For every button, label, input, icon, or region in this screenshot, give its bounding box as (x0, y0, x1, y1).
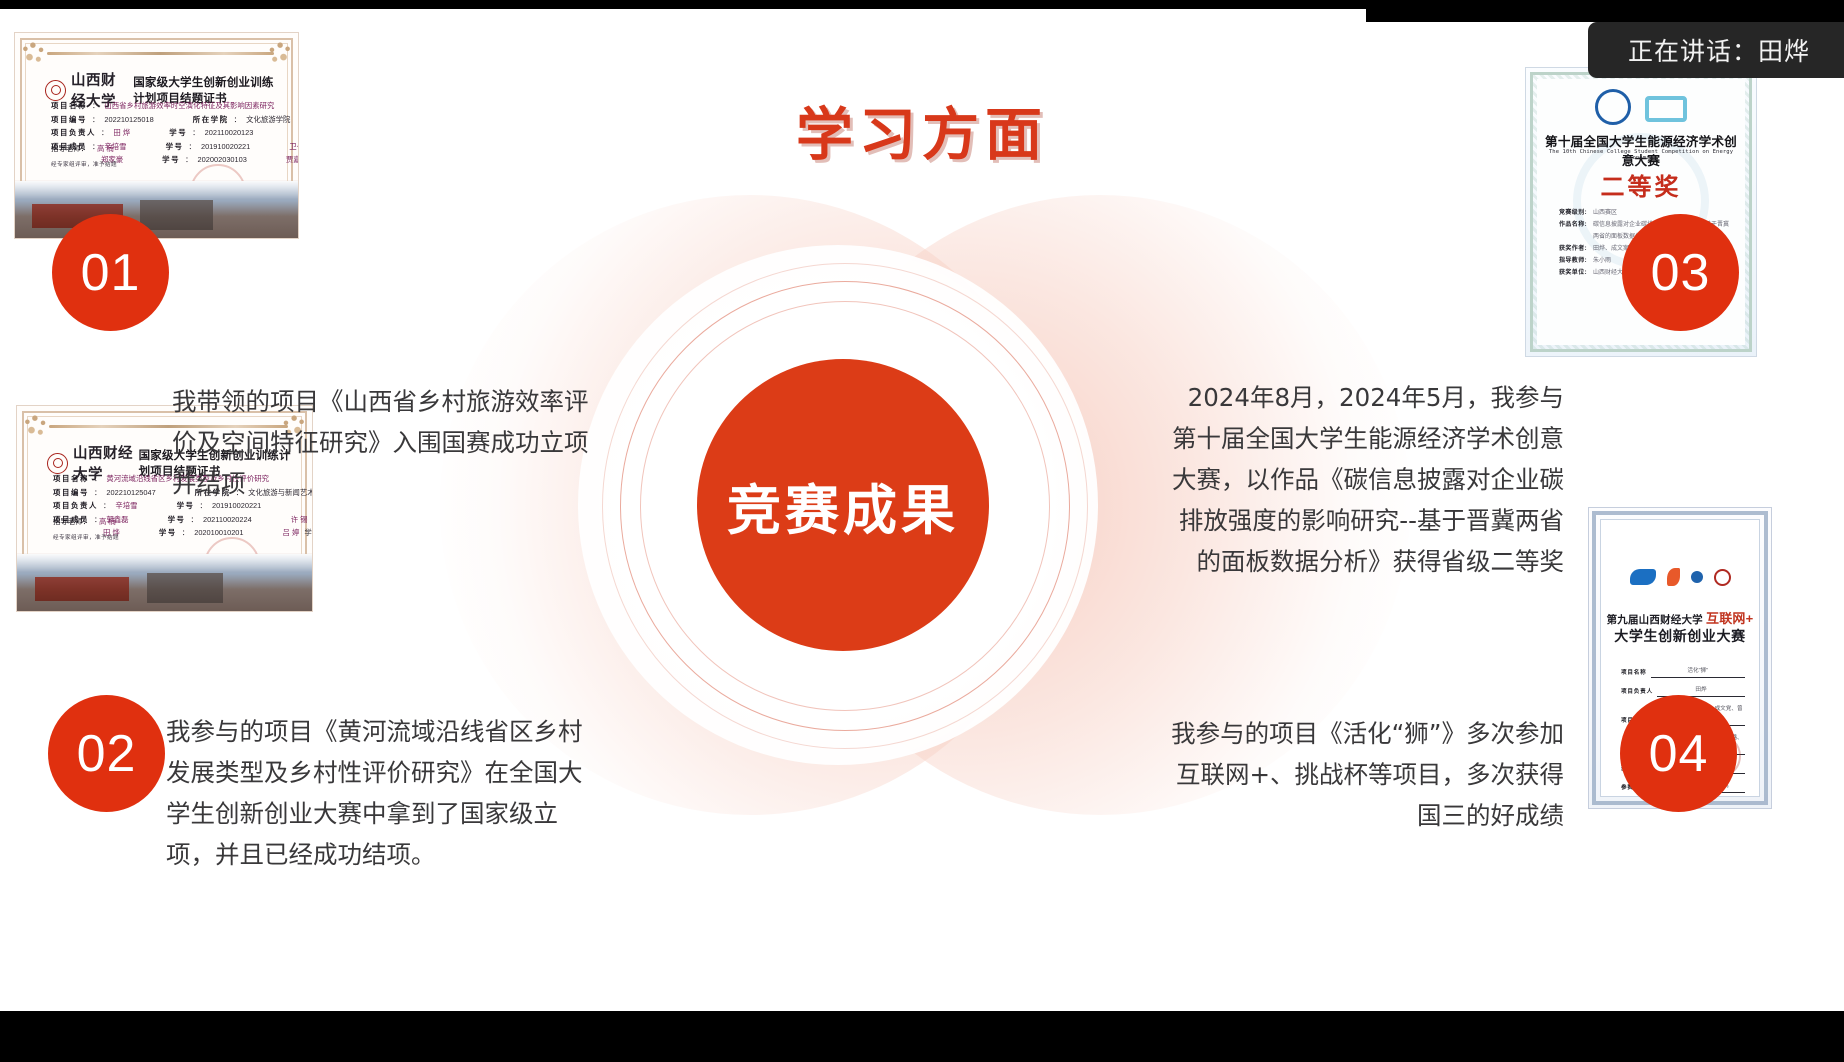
teacher-label: 指导老师： (51, 144, 88, 153)
field-label: 项目名称 (51, 99, 87, 113)
sponsor-logo-icon (1691, 571, 1703, 583)
cert-note: 经专家组评审，准予结题 (51, 159, 117, 172)
field-label: 学号 (168, 513, 186, 527)
field-label: 指导教师: (1559, 255, 1587, 267)
field-label: 项目负责人 (1621, 687, 1653, 697)
field-value: 朱小雨 (1593, 255, 1611, 267)
field-label: 项目负责人 (51, 126, 96, 140)
step-badge-01: 01 (52, 214, 169, 331)
campus-photo (17, 554, 312, 611)
field-label: 项目编号 (53, 486, 89, 500)
cert-note: 经专家组评审，准予结题 (53, 532, 119, 545)
center-topic-label: 竞赛成果 (727, 466, 959, 545)
letterbox-bottom (0, 1011, 1844, 1062)
field-label: 所在学院 (193, 113, 229, 127)
field-label: 项目编号 (51, 113, 87, 127)
university-seal-icon (47, 453, 68, 474)
competition-title-line1: 第九届山西财经大学 互联网+ (1601, 608, 1759, 627)
field-value: 许 锡 (291, 513, 308, 527)
field-value: 山西赛区 (1593, 207, 1617, 219)
flame-logo-icon (1667, 568, 1680, 586)
competition-brand: 互联网+ (1706, 611, 1753, 626)
competition-logo-icon (1595, 89, 1631, 125)
active-speaker-label: 正在讲话：田烨 (1628, 32, 1810, 68)
step-badge-03: 03 (1622, 214, 1739, 331)
field-value: 卫一凡 (289, 140, 299, 154)
active-speaker-banner: 正在讲话：田烨 (1588, 22, 1844, 78)
cert-teacher-block: 指导老师：高 楠 经专家组评审，准予结题 (53, 515, 119, 545)
field-value: 田 烨 (113, 126, 130, 140)
field-label: 获奖单位: (1559, 267, 1587, 279)
university-seal-icon (1714, 569, 1731, 586)
field-value: 辛培雪 (115, 499, 137, 513)
cert-top-rule (47, 52, 274, 55)
field-label: 作品名称: (1559, 219, 1587, 243)
competition-title-prefix: 第九届山西财经大学 (1607, 614, 1703, 626)
video-conference-screen: 学习方面 竞赛成果 山西财经大学 国家级大学生创新创业训练计划项目结题证书 项目… (0, 0, 1844, 1062)
university-seal-icon (45, 80, 66, 101)
shared-slide: 学习方面 竞赛成果 山西财经大学 国家级大学生创新创业训练计划项目结题证书 项目… (0, 9, 1844, 1011)
campus-photo (15, 181, 298, 238)
field-label: 项目名称 (53, 472, 89, 486)
field-label: 获奖作者: (1559, 243, 1587, 255)
field-value: 学号：202110029123 (304, 526, 313, 540)
field-value: 202210125047 (106, 486, 155, 500)
competition-title-en: The 10th Chinese College Student Competi… (1545, 149, 1737, 161)
field-value: 201910020221 (201, 140, 250, 154)
field-label: 学号 (169, 126, 187, 140)
field-value: 贾嘉琪 (286, 153, 299, 167)
bullet-text-03: 2024年8月，2024年5月，我参与第十届全国大学生能源经济学术创意大赛，以作… (1168, 377, 1564, 582)
prize-level: 二等奖 (1537, 167, 1745, 202)
field-value: 202210125018 (104, 113, 153, 127)
field-value: 202110020224 (203, 513, 252, 527)
field-value: 吕 婷 (283, 526, 300, 540)
step-badge-04: 04 (1620, 695, 1737, 812)
field-label: 项目负责人 (53, 499, 98, 513)
field-value: 202110020123 (205, 126, 254, 140)
teacher-name: 高 楠 (99, 517, 116, 526)
competition-title-line2: 大学生创新创业大赛 (1601, 626, 1759, 646)
cert-logos (1537, 89, 1745, 125)
field-label: 学号 (166, 140, 184, 154)
teacher-label: 指导老师： (53, 517, 90, 526)
teacher-name: 高 楠 (97, 144, 114, 153)
center-topic-circle: 竞赛成果 (697, 359, 989, 651)
bullet-text-01: 我带领的项目《山西省乡村旅游效率评价及空间特征研究》入围国赛成功立项并结项 (172, 381, 596, 504)
bullet-text-02: 我参与的项目《黄河流域沿线省区乡村发展类型及乡村性评价研究》在全国大学生创新创业… (166, 711, 602, 875)
field-value: 文化旅游学院 (246, 113, 290, 127)
field-label: 竞赛级别: (1559, 207, 1587, 219)
field-value: 活化"狮" (1651, 666, 1745, 678)
cert-logos (1601, 568, 1759, 586)
competition-logo-icon (1630, 569, 1656, 585)
field-value: 山西省乡村旅游效率时空演化特征及其影响因素研究 (104, 99, 274, 113)
certificate-image-01: 山西财经大学 国家级大学生创新创业训练计划项目结题证书 项目名称：山西省乡村旅游… (14, 32, 299, 239)
field-label: 学号 (159, 526, 177, 540)
step-badge-02: 02 (48, 695, 165, 812)
field-label: 项目名称 (1621, 668, 1647, 678)
overlay-top-strip (1366, 0, 1844, 22)
field-label: 学号 (162, 153, 180, 167)
cert-teacher-block: 指导老师：高 楠 经专家组评审，准予结题 (51, 142, 117, 172)
bullet-text-04: 我参与的项目《活化“狮”》多次参加互联网+、挑战杯等项目，多次获得国三的好成绩 (1160, 713, 1564, 836)
sponsor-logo-icon (1645, 96, 1687, 122)
